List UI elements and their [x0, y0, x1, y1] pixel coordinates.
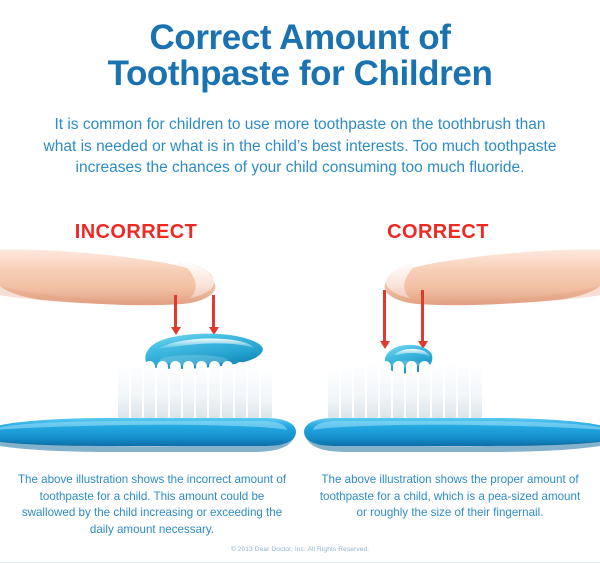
- arrow-down-right-1: [383, 290, 386, 342]
- toothbrush-svg: [300, 360, 600, 458]
- bristles-group: [328, 361, 482, 421]
- arrow-down-left-2: [212, 295, 215, 328]
- bristles-group: [118, 361, 272, 421]
- finger-illustration-right: [368, 244, 600, 324]
- caption-incorrect: The above illustration shows the incorre…: [14, 472, 290, 538]
- caption-correct: The above illustration shows the proper …: [314, 472, 586, 522]
- toothbrush-left: [0, 360, 300, 458]
- copyright-notice: © 2013 Dear Doctor, Inc. All Rights Rese…: [0, 546, 600, 553]
- arrow-down-right-2: [421, 290, 424, 342]
- panel-correct: [300, 240, 600, 470]
- finger-svg: [0, 244, 232, 324]
- page-title-line-1: Correct Amount of: [0, 20, 600, 56]
- intro-paragraph: It is common for children to use more to…: [38, 114, 562, 179]
- toothbrush-right: [300, 360, 600, 458]
- finger-svg: [368, 244, 600, 324]
- arrow-down-left-1: [174, 295, 177, 328]
- panel-incorrect: [0, 240, 300, 470]
- toothbrush-svg: [0, 360, 300, 458]
- infographic-root: Correct Amount of Toothpaste for Childre…: [0, 0, 600, 563]
- finger-illustration-left: [0, 244, 232, 324]
- page-title: Correct Amount of Toothpaste for Childre…: [0, 20, 600, 92]
- page-title-line-2: Toothpaste for Children: [0, 56, 600, 92]
